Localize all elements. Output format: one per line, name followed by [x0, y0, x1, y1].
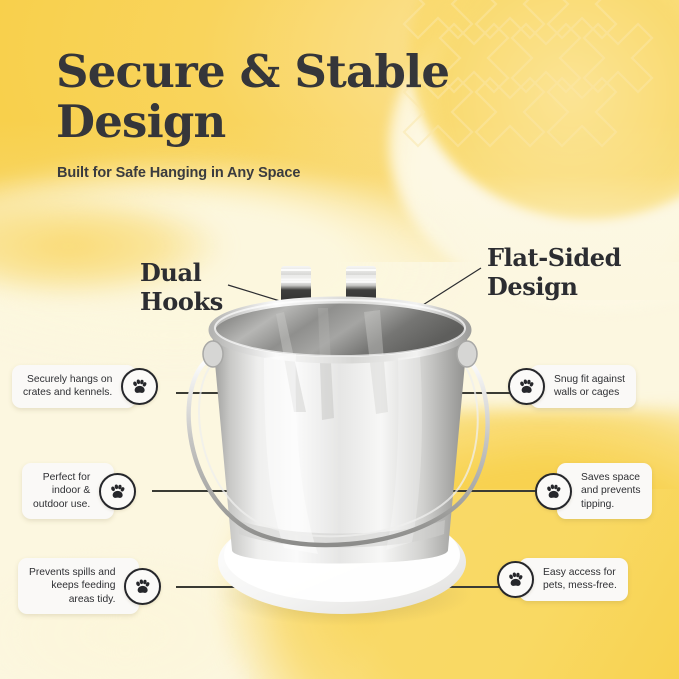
handle-ear-right [457, 341, 477, 367]
callout-left-1-text: Securely hangs on crates and kennels. [12, 365, 136, 408]
callout-left-2[interactable]: Perfect for indoor & outdoor use. [22, 463, 136, 519]
paw-icon [497, 561, 534, 598]
paw-print-glyph [517, 377, 536, 396]
paw-print-glyph [130, 377, 149, 396]
infographic-canvas: Secure & Stable Design Built for Safe Ha… [0, 0, 679, 679]
paw-icon [124, 568, 161, 605]
paw-print-glyph [108, 482, 127, 501]
callout-left-3-text: Prevents spills and keeps feeding areas … [18, 558, 139, 614]
callout-left-1[interactable]: Securely hangs on crates and kennels. [12, 365, 158, 408]
page-title-line2: Design [56, 97, 576, 147]
page-title: Secure & Stable Design [56, 47, 576, 147]
paw-print-glyph [544, 482, 563, 501]
callout-right-1[interactable]: Snug fit against walls or cages [508, 365, 636, 408]
callout-right-3[interactable]: Easy access for pets, mess-free. [497, 558, 628, 601]
paw-print-glyph [506, 570, 525, 589]
handle-ear-left [203, 341, 223, 367]
product-image-hanging-pail [168, 262, 516, 630]
callout-right-1-text: Snug fit against walls or cages [530, 365, 636, 408]
paw-icon [535, 473, 572, 510]
paw-print-glyph [133, 577, 152, 596]
callout-right-3-text: Easy access for pets, mess-free. [519, 558, 628, 601]
page-subtitle: Built for Safe Hanging in Any Space [57, 165, 300, 181]
paw-icon [99, 473, 136, 510]
callout-left-3[interactable]: Prevents spills and keeps feeding areas … [18, 558, 161, 614]
callout-right-2[interactable]: Saves space and prevents tipping. [535, 463, 652, 519]
paw-icon [121, 368, 158, 405]
page-title-line1: Secure & Stable [56, 47, 576, 97]
paw-icon [508, 368, 545, 405]
